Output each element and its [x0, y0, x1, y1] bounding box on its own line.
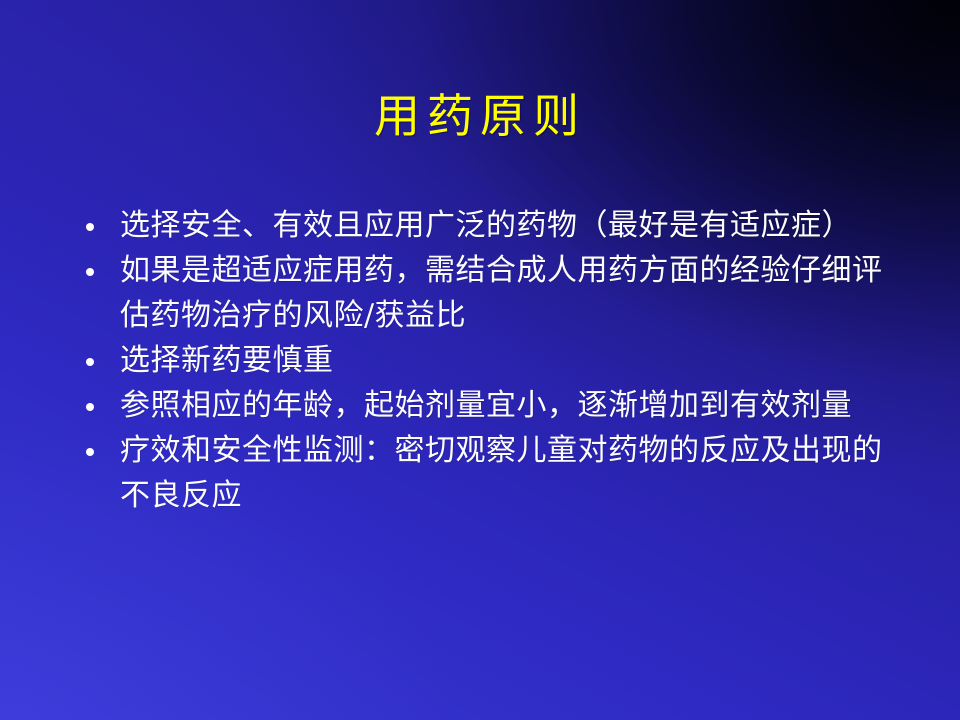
- bullet-item-2: 如果是超适应症用药，需结合成人用药方面的经验仔细评估药物治疗的风险/获益比: [78, 248, 898, 338]
- bullet-list: 选择安全、有效且应用广泛的药物（最好是有适应症） 如果是超适应症用药，需结合成人…: [78, 203, 898, 518]
- bullet-dot-icon: [86, 268, 94, 276]
- bullet-item-3-text: 选择新药要慎重: [120, 338, 898, 383]
- bullet-dot-icon: [86, 448, 94, 456]
- slide-title: 用药原则: [0, 92, 960, 140]
- bullet-dot-icon: [86, 223, 94, 231]
- bullet-item-4: 参照相应的年龄，起始剂量宜小，逐渐增加到有效剂量: [78, 383, 898, 428]
- bullet-item-5-text: 疗效和安全性监测：密切观察儿童对药物的反应及出现的不良反应: [120, 428, 898, 518]
- bullet-dot-icon: [86, 403, 94, 411]
- bullet-item-2-text: 如果是超适应症用药，需结合成人用药方面的经验仔细评估药物治疗的风险/获益比: [120, 248, 898, 338]
- bullet-item-4-text: 参照相应的年龄，起始剂量宜小，逐渐增加到有效剂量: [120, 383, 898, 428]
- bullet-item-3: 选择新药要慎重: [78, 338, 898, 383]
- bullet-dot-icon: [86, 358, 94, 366]
- presentation-slide: 用药原则 选择安全、有效且应用广泛的药物（最好是有适应症） 如果是超适应症用药，…: [0, 0, 960, 720]
- bullet-item-1: 选择安全、有效且应用广泛的药物（最好是有适应症）: [78, 203, 898, 248]
- bullet-item-5: 疗效和安全性监测：密切观察儿童对药物的反应及出现的不良反应: [78, 428, 898, 518]
- bullet-item-1-text: 选择安全、有效且应用广泛的药物（最好是有适应症）: [120, 203, 898, 248]
